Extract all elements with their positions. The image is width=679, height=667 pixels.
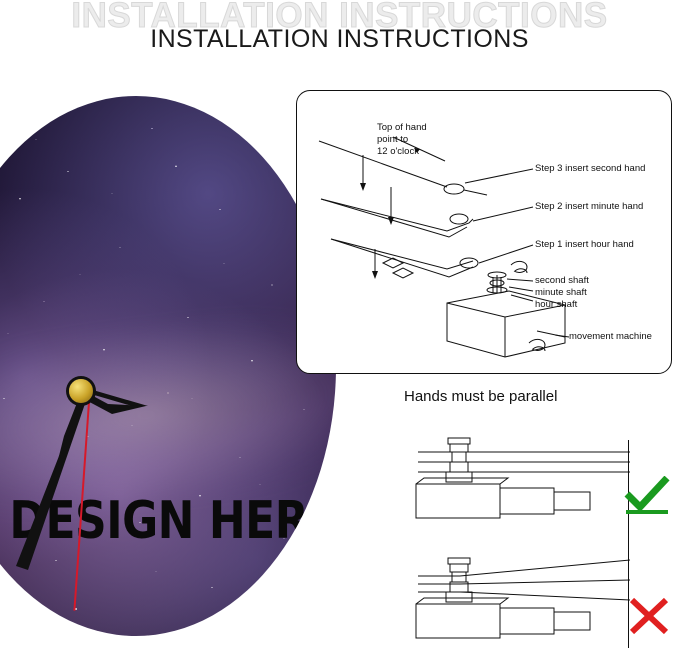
note-line-3: 12 o'clock <box>377 146 419 157</box>
note-line-1: Top of hand <box>377 122 427 133</box>
parallel-check-panel: Hands must be parallel <box>396 388 676 656</box>
second-shaft-label: second shaft <box>535 275 589 286</box>
hour-hand <box>0 96 336 636</box>
correct-illustration <box>404 426 636 546</box>
hour-shaft-label: hour shaft <box>535 299 577 310</box>
page-title: INSTALLATION INSTRUCTIONS <box>0 25 679 54</box>
note-line-2: point to <box>377 134 408 145</box>
clock-center-hub <box>69 379 93 403</box>
step-2-label: Step 2 insert minute hand <box>535 201 643 212</box>
incorrect-illustration <box>404 546 636 666</box>
step-3-label: Step 3 insert second hand <box>535 163 645 174</box>
check-icon <box>624 476 670 516</box>
product-photo: UR DESIGN HERE <box>0 96 336 636</box>
movement-machine-label: movement machine <box>569 331 652 342</box>
parallel-panel-title: Hands must be parallel <box>404 388 557 405</box>
step-1-label: Step 1 insert hour hand <box>535 239 634 250</box>
steps-diagram-panel: Top of hand point to 12 o'clock Step 3 i… <box>296 90 672 374</box>
cross-icon <box>628 596 670 636</box>
minute-shaft-label: minute shaft <box>535 287 587 298</box>
